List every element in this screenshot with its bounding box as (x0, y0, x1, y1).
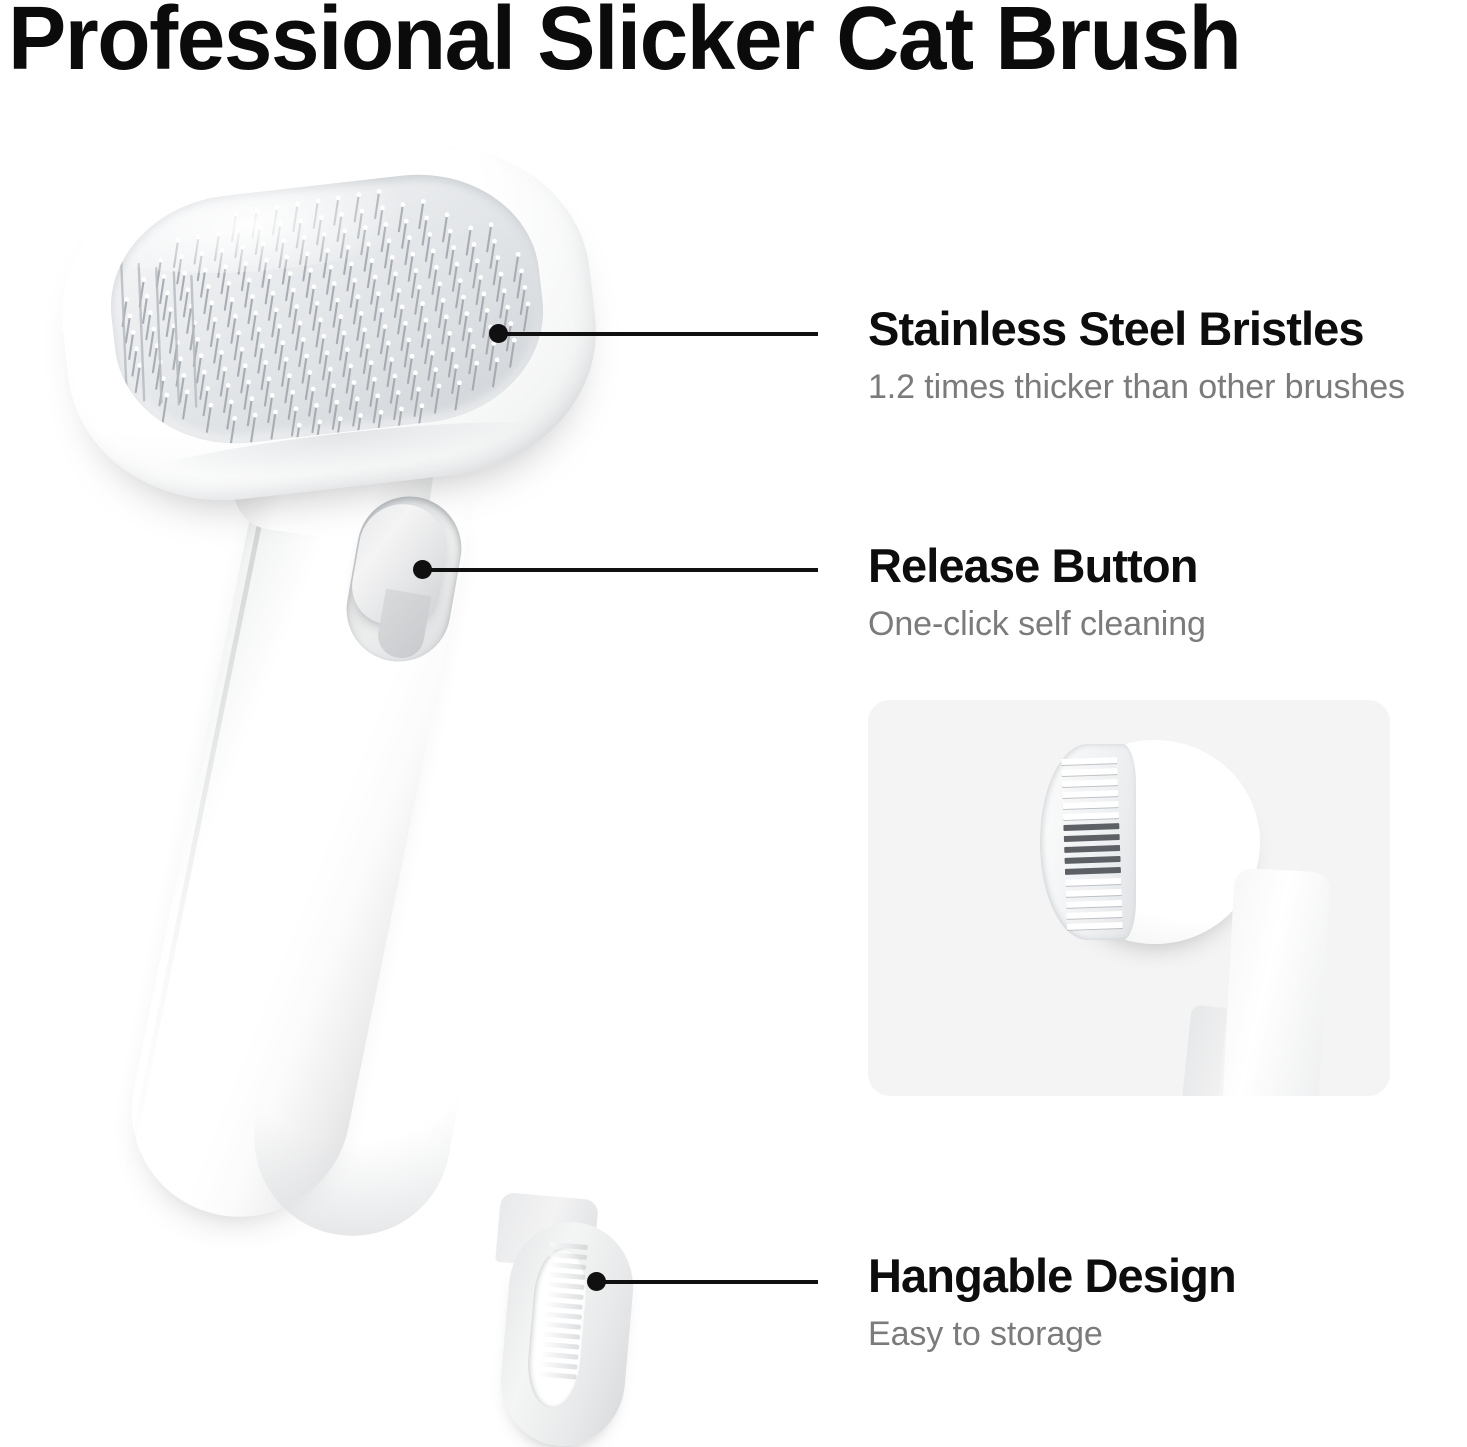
brush-head-bristle-pad (99, 161, 554, 456)
callout-heading: Stainless Steel Bristles (868, 305, 1405, 353)
callout-subtext: 1.2 times thicker than other brushes (868, 370, 1405, 406)
product-infographic: Professional Slicker Cat Brush (0, 0, 1467, 1447)
callout-subtext: One-click self cleaning (868, 607, 1206, 643)
inset-photo-panel (868, 700, 1390, 1096)
callout-heading: Release Button (868, 542, 1206, 590)
product-illustration (0, 0, 880, 1447)
callout-subtext: Easy to storage (868, 1317, 1236, 1353)
inset-bristle-teeth (1061, 757, 1123, 931)
callout-heading: Hangable Design (868, 1252, 1236, 1300)
callout-line-hangable (596, 1280, 818, 1284)
bristle-grid-icon (99, 161, 554, 456)
callout-release: Release Button One-click self cleaning (868, 542, 1206, 643)
callout-line-release (422, 568, 818, 572)
inset-handle (1221, 868, 1330, 1096)
callout-hangable: Hangable Design Easy to storage (868, 1252, 1236, 1353)
callout-bristles: Stainless Steel Bristles 1.2 times thick… (868, 305, 1405, 406)
inset-hook (1180, 1004, 1228, 1096)
handle-shading (238, 992, 472, 1252)
callout-line-bristles (498, 332, 818, 336)
